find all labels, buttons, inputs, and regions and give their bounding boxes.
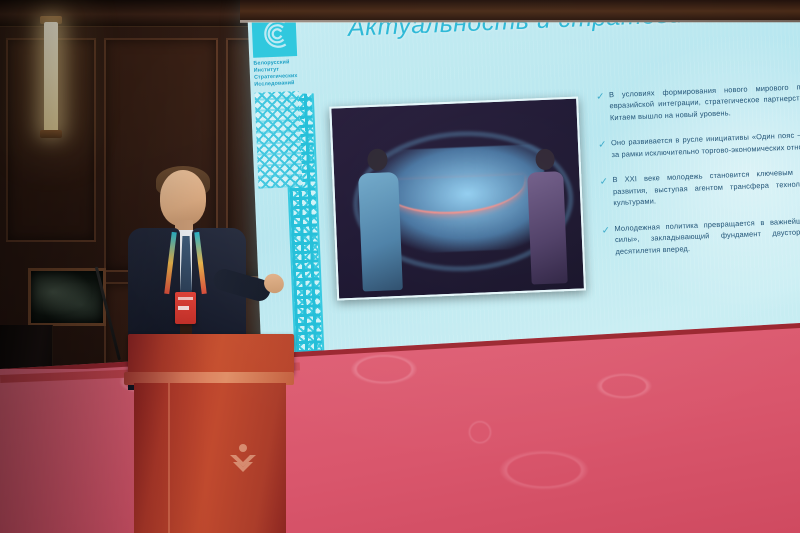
presenter-head xyxy=(160,170,206,226)
photo-person-body xyxy=(358,172,403,292)
photo-person-head xyxy=(367,148,388,171)
lectern-body xyxy=(134,383,286,533)
conference-photo-scene: Белорусский Институт Стратегических Иссл… xyxy=(0,0,800,533)
institute-logo: Белорусский Институт Стратегических Иссл… xyxy=(251,9,324,188)
photo-person-right xyxy=(526,148,568,284)
stylized-flame-emblem-icon xyxy=(226,443,260,473)
slide-bullet-text: В условиях формирования нового мирового … xyxy=(609,78,800,124)
sconce-cap-bottom xyxy=(40,130,62,138)
marble-inset-panel xyxy=(28,268,106,326)
slide-bullet-text: Оно развивается в русле инициативы «Один… xyxy=(611,126,800,160)
photo-person-body xyxy=(527,171,568,284)
photo-person-head xyxy=(535,149,555,171)
photo-person-left xyxy=(357,148,403,292)
checkmark-icon: ✓ xyxy=(598,138,612,161)
slide-bullet-list: ✓ В условиях формирования нового мировог… xyxy=(596,78,800,272)
slide-bullet-text: В XXI веке молодежь становится ключевым … xyxy=(612,163,800,209)
slide-bullet-item: ✓ В XXI веке молодежь становится ключевы… xyxy=(599,163,800,209)
wooden-lectern xyxy=(124,334,294,533)
institute-logo-text: Белорусский Институт Стратегических Иссл… xyxy=(253,58,320,88)
screen-valance xyxy=(240,0,800,22)
lectern-top xyxy=(128,334,294,374)
slide-bullet-item: ✓ Оно развивается в русле инициативы «Од… xyxy=(598,126,800,161)
conference-badge xyxy=(175,292,196,324)
slide-bullet-item: ✓ В условиях формирования нового мировог… xyxy=(596,78,800,124)
wall-sconce-light xyxy=(44,22,58,132)
slide-bullet-text: Молодежная политика превращается в важне… xyxy=(614,212,800,258)
slide-bullet-item: ✓ Молодежная политика превращается в важ… xyxy=(601,212,800,258)
slide-photo xyxy=(329,97,586,301)
